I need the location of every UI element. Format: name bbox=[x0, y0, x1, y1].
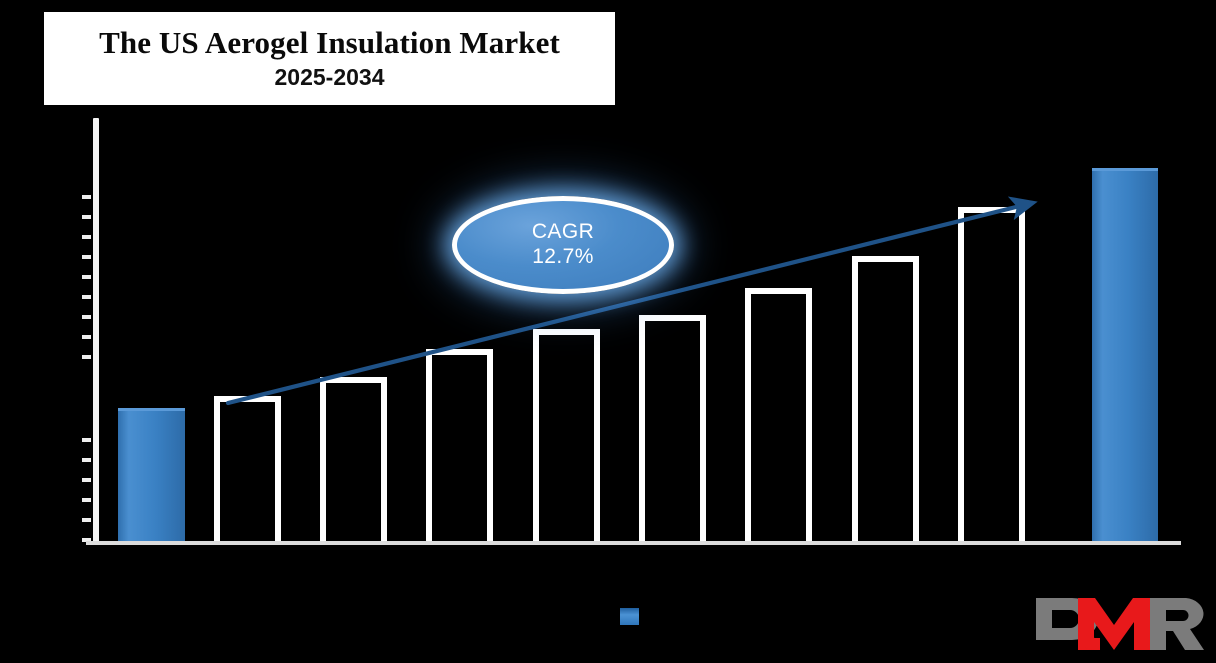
y-axis-line bbox=[93, 118, 99, 544]
y-axis-tick bbox=[82, 478, 91, 482]
bar-2026 bbox=[214, 396, 281, 543]
y-axis-tick bbox=[82, 438, 91, 442]
bar-2034 bbox=[1092, 168, 1158, 543]
cagr-callout: CAGR 12.7% bbox=[452, 196, 674, 294]
x-axis-baseline bbox=[86, 541, 1181, 545]
bar-2032 bbox=[852, 256, 919, 543]
y-axis-tick bbox=[82, 295, 91, 299]
legend-swatch-icon bbox=[620, 608, 639, 625]
bar-2025 bbox=[118, 408, 185, 543]
y-axis-tick bbox=[82, 498, 91, 502]
bar-2028 bbox=[426, 349, 493, 543]
y-axis-tick bbox=[82, 235, 91, 239]
bar-2029 bbox=[533, 329, 600, 543]
chart-canvas: The US Aerogel Insulation Market 2025-20… bbox=[0, 0, 1216, 663]
y-axis-tick bbox=[82, 315, 91, 319]
y-axis-tick bbox=[82, 195, 91, 199]
bar-2031 bbox=[745, 288, 812, 543]
y-axis-tick bbox=[82, 215, 91, 219]
trend-arrow-icon bbox=[0, 0, 1216, 663]
cagr-label: CAGR bbox=[532, 220, 594, 244]
y-axis-tick bbox=[82, 275, 91, 279]
y-axis-tick bbox=[82, 255, 91, 259]
y-axis-tick bbox=[82, 355, 91, 359]
y-axis-tick bbox=[82, 518, 91, 522]
dmr-logo bbox=[1032, 588, 1208, 650]
plot-area: CAGR 12.7% bbox=[0, 0, 1216, 663]
dmr-logo-icon bbox=[1032, 588, 1208, 650]
legend bbox=[620, 608, 645, 625]
bar-2030 bbox=[639, 315, 706, 543]
bar-2033 bbox=[958, 207, 1025, 543]
y-axis-tick bbox=[82, 335, 91, 339]
cagr-value: 12.7% bbox=[532, 244, 594, 270]
bar-2027 bbox=[320, 377, 387, 543]
y-axis-tick bbox=[82, 458, 91, 462]
